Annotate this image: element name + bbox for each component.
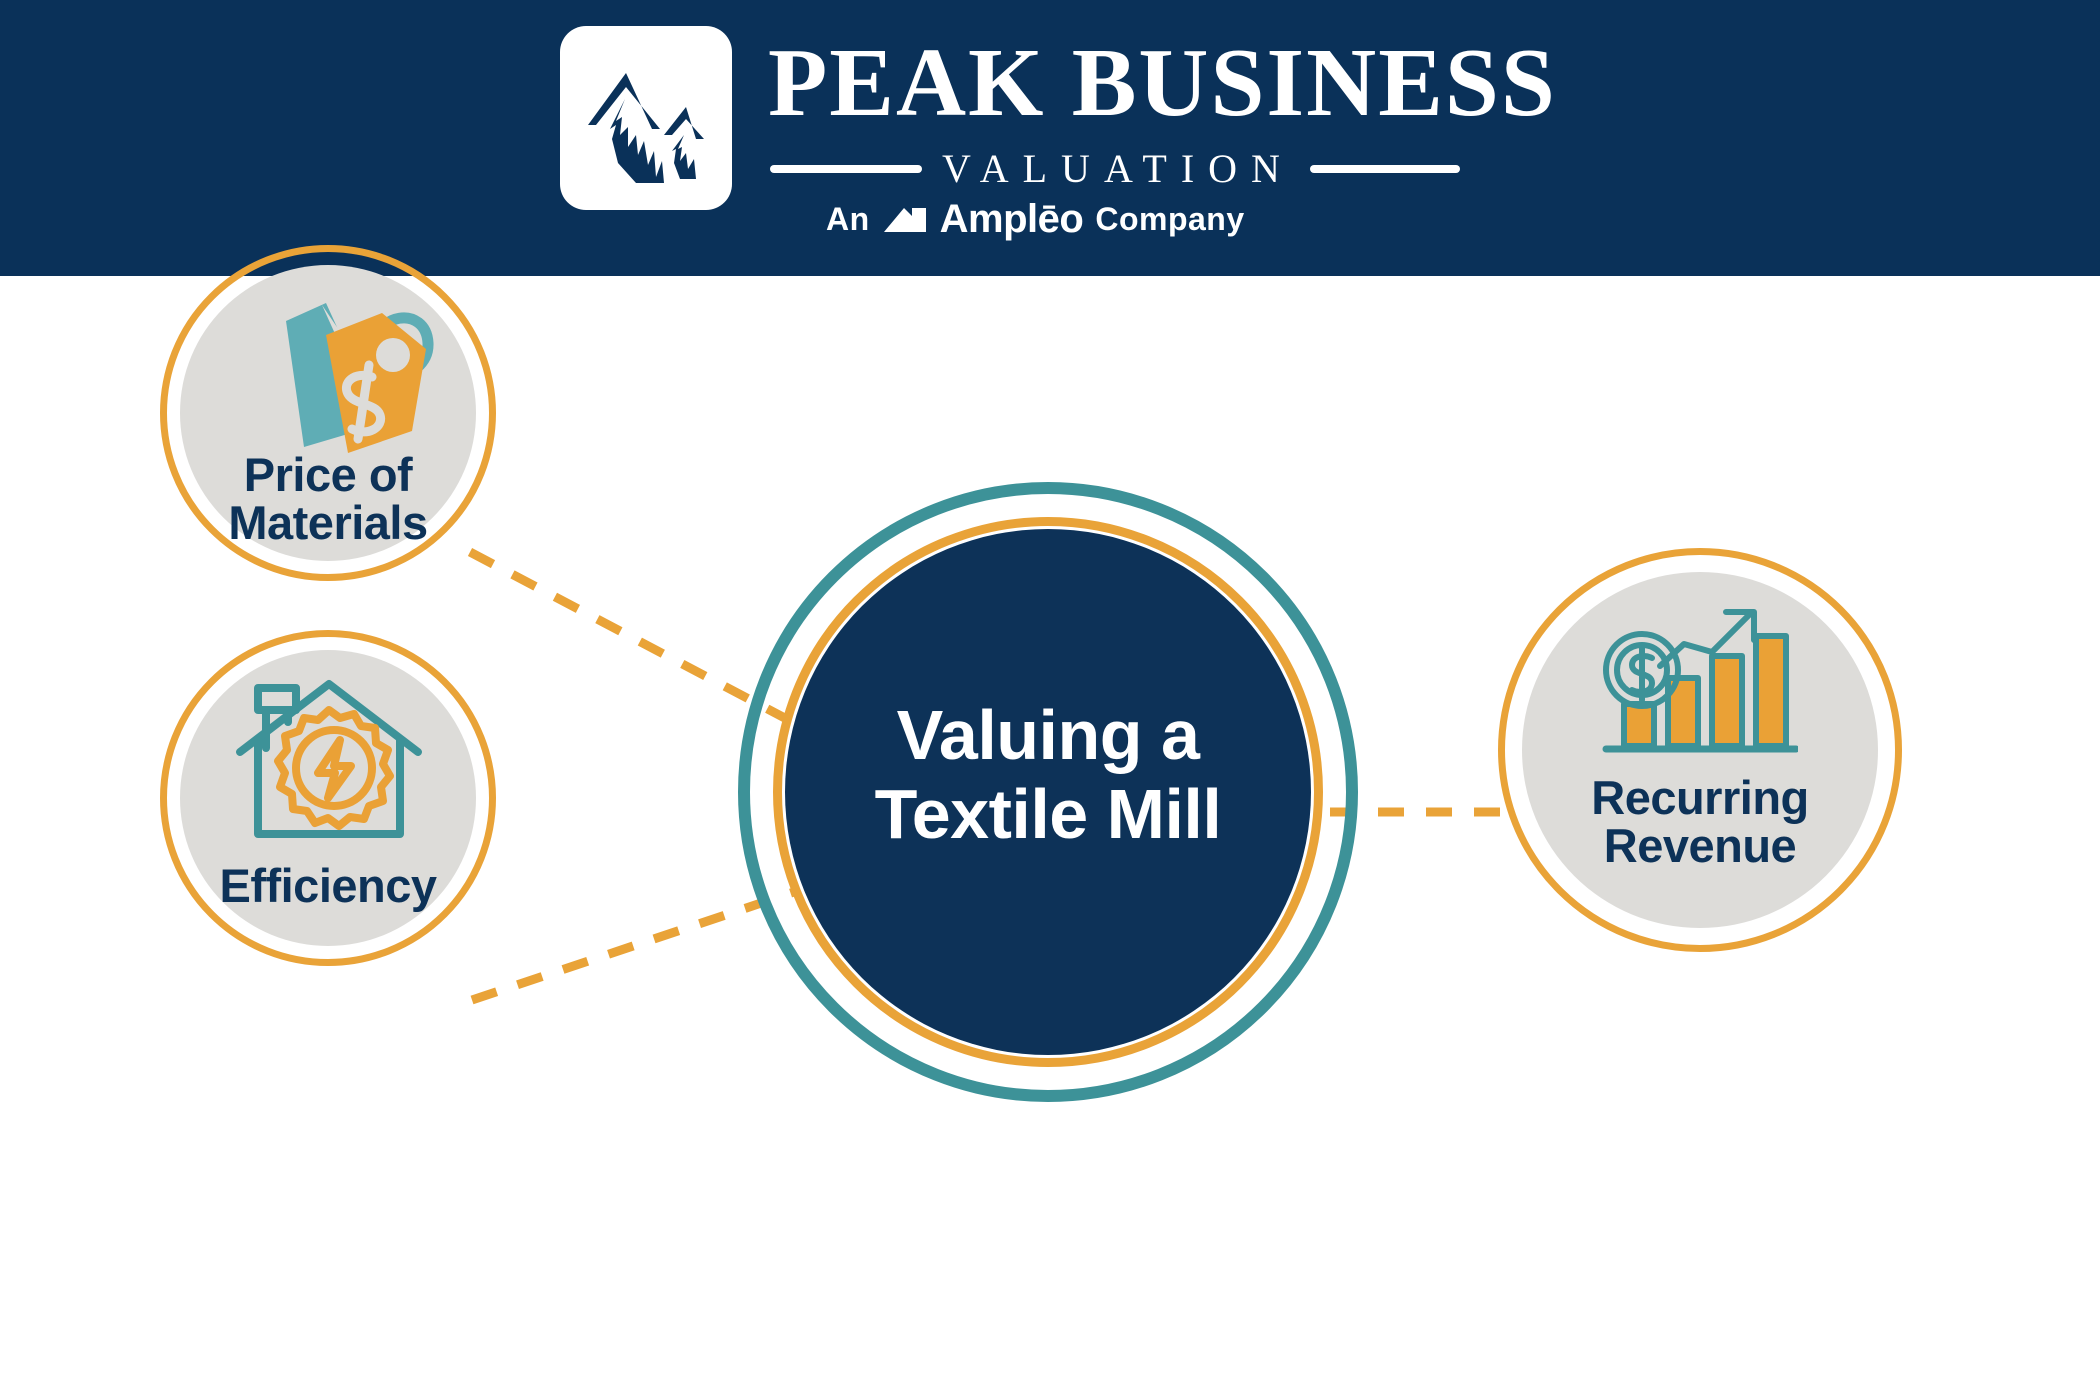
brand-name-secondary-row: VALUATION [770,144,1576,194]
node-label: Recurring Revenue [1498,774,1902,870]
node-label-line2: Revenue [1498,822,1902,870]
brand-rule-left [770,165,922,173]
hub-valuing-a-textile-mill[interactable]: Valuing a Textile Mill [738,482,1358,1102]
node-label: Price of Materials [160,451,496,547]
affiliation-lockup: An Amplēo Company [826,196,1245,242]
mountain-peak-logo-icon [560,26,732,210]
hub-title-line1: Valuing a [738,696,1358,775]
node-efficiency[interactable]: Efficiency [160,630,496,966]
node-label: Efficiency [160,862,496,910]
brand-name-primary: PEAK BUSINESS [768,34,1557,131]
brand-header: PEAK BUSINESS VALUATION An Amplēo Compan… [0,0,2100,276]
node-label-line1: Recurring [1498,774,1902,822]
infographic-canvas: PEAK BUSINESS VALUATION An Amplēo Compan… [0,0,2100,1400]
affiliation-prefix: An [826,201,870,238]
growth-bar-chart-dollar-icon [1602,606,1798,762]
node-label-line2: Materials [160,499,496,547]
logo-lockup: PEAK BUSINESS VALUATION An Amplēo Compan… [560,26,1580,250]
node-price-of-materials[interactable]: Price of Materials [160,245,496,581]
node-recurring-revenue[interactable]: Recurring Revenue [1498,548,1902,952]
affiliation-suffix: Company [1095,201,1244,238]
ampleo-logo-icon [882,202,928,236]
hub-title-line2: Textile Mill [738,775,1358,854]
node-label-line1: Price of [160,451,496,499]
affiliation-brand: Amplēo [940,197,1084,242]
node-label-line1: Efficiency [160,862,496,910]
price-tag-dollar-icon [222,291,434,461]
house-gear-bolt-icon [234,678,424,850]
brand-rule-right [1310,165,1460,173]
brand-name-secondary: VALUATION [922,149,1310,189]
hub-title: Valuing a Textile Mill [738,696,1358,854]
